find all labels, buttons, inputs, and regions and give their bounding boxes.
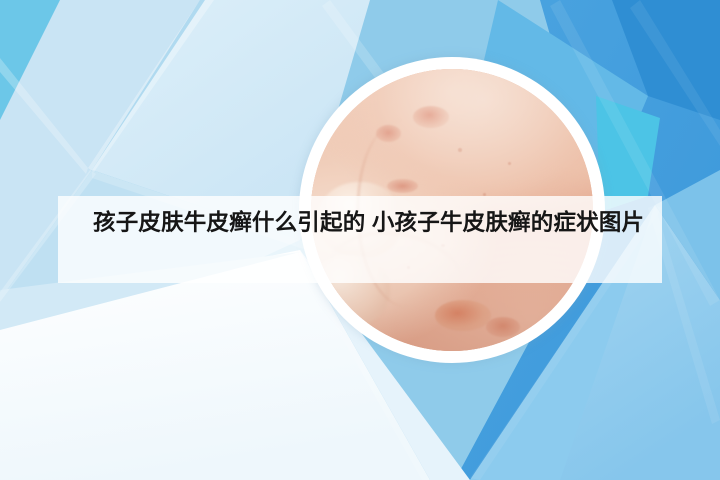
page-title: 孩子皮肤牛皮癣什么引起的 小孩子牛皮肤癣的症状图片 bbox=[93, 205, 658, 240]
thumbnail-card: 孩子皮肤牛皮癣什么引起的 小孩子牛皮肤癣的症状图片 bbox=[0, 0, 720, 480]
